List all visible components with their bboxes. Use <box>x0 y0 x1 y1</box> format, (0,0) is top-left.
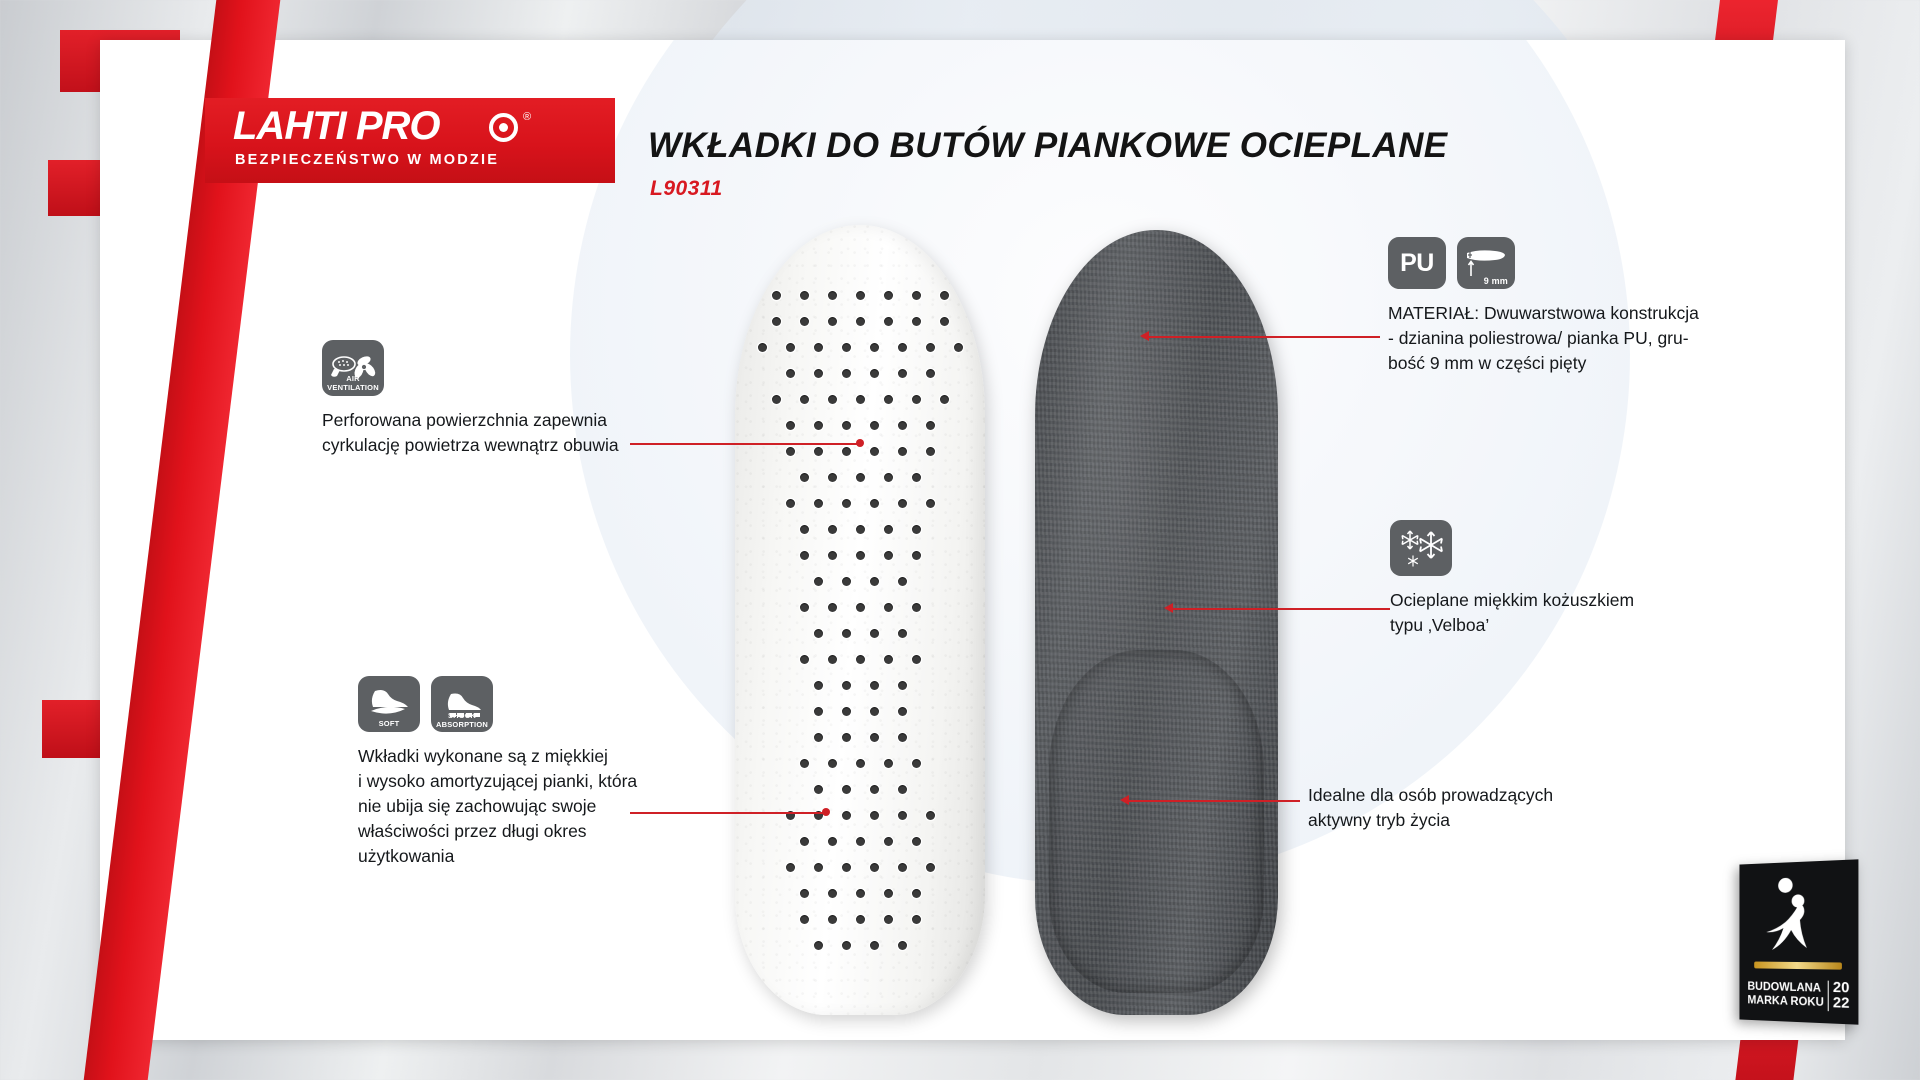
feature-cushioning-line3: nie ubija się zachowując swoje <box>358 794 637 819</box>
brand-logo: LAHTI PRO ® BEZPIECZEŃSTWO W MODZIE <box>205 98 615 183</box>
gray-insole-image <box>1035 230 1278 1015</box>
perforation-pattern <box>735 225 985 1015</box>
leader-arrow-insulation <box>1164 603 1173 613</box>
thickness-caption: 9 mm <box>1484 277 1508 286</box>
feature-ventilation-line2: cyrkulację powietrza wewnątrz obuwia <box>322 433 619 458</box>
product-code: L90311 <box>650 177 723 201</box>
award-figure-icon <box>1756 868 1840 966</box>
snowflake-glyph <box>1394 526 1448 570</box>
leader-line-insulation <box>1172 608 1390 610</box>
feature-insulation: Ocieplane miękkim kożuszkiem typu ‚Velbo… <box>1390 520 1634 638</box>
feature-insulation-line1: Ocieplane miękkim kożuszkiem <box>1390 588 1634 613</box>
award-badge: BUDOWLANA MARKA ROKU 20 22 <box>1739 859 1858 1024</box>
registered-mark: ® <box>523 111 531 123</box>
feature-active-line2: aktywny tryb życia <box>1308 808 1553 833</box>
brand-tagline: BEZPIECZEŃSTWO W MODZIE <box>235 152 499 168</box>
leader-line-material <box>1148 336 1380 338</box>
air-ventilation-icon: AIRVENTILATION <box>322 340 384 396</box>
award-year-bottom: 22 <box>1833 996 1849 1012</box>
feature-cushioning-line1: Wkładki wykonane są z miękkiej <box>358 744 637 769</box>
target-icon <box>489 113 518 142</box>
feature-active-lifestyle: Idealne dla osób prowadzących aktywny tr… <box>1308 783 1553 833</box>
leader-line-active <box>1128 800 1300 802</box>
leader-line-ventilation <box>630 443 862 445</box>
air-ventilation-caption: AIRVENTILATION <box>327 375 379 392</box>
feature-material-line2: - dzianina poliestrowa/ pianka PU, gru- <box>1388 326 1699 351</box>
feature-active-line1: Idealne dla osób prowadzących <box>1308 783 1553 808</box>
feature-cushioning-line5: użytkowania <box>358 844 637 869</box>
shock-absorption-caption: SHOCKABSORPTION <box>436 712 488 729</box>
feature-material-line1: MATERIAŁ: Dwuwarstwowa konstrukcja <box>1388 301 1699 326</box>
pu-material-icon: PU <box>1388 237 1446 289</box>
brand-name: LAHTI PRO <box>233 104 440 149</box>
award-badge-base <box>1754 962 1842 970</box>
soft-icon: SOFT <box>358 676 420 732</box>
feature-cushioning: SOFT SHOCKABSORPTION Wkładki wykonane są… <box>358 676 637 869</box>
leader-arrow-active <box>1120 795 1129 805</box>
feature-ventilation-line1: Perforowana powierzchnia zapewnia <box>322 408 619 433</box>
leader-line-cushioning <box>630 812 828 814</box>
thickness-icon: 9 mm <box>1457 237 1515 289</box>
feature-material-line3: bość 9 mm w części pięty <box>1388 351 1699 376</box>
page-title: WKŁADKI DO BUTÓW PIANKOWE OCIEPLANE <box>648 126 1448 166</box>
leader-arrow-material <box>1140 331 1149 341</box>
leader-dot-ventilation <box>856 439 864 447</box>
foot-feather-glyph <box>365 687 413 721</box>
insole-thickness-glyph <box>1461 246 1511 280</box>
soft-caption: SOFT <box>379 720 400 729</box>
feature-insulation-line2: typu ‚Velboa’ <box>1390 613 1634 638</box>
white-insole-image <box>735 225 985 1015</box>
award-name-line2: MARKA ROKU <box>1747 994 1823 1010</box>
pu-caption: PU <box>1400 249 1434 278</box>
feature-ventilation: AIRVENTILATION Perforowana powierzchnia … <box>322 340 619 458</box>
leader-dot-cushioning <box>822 808 830 816</box>
feature-cushioning-line4: właściwości przez długi okres <box>358 819 637 844</box>
snowflakes-icon <box>1390 520 1452 576</box>
feature-cushioning-line2: i wysoko amortyzującej pianki, która <box>358 769 637 794</box>
shock-absorption-icon: SHOCKABSORPTION <box>431 676 493 732</box>
feature-material: PU 9 mm MATERIAŁ: Dwuwarstwowa konstrukc… <box>1388 237 1699 376</box>
